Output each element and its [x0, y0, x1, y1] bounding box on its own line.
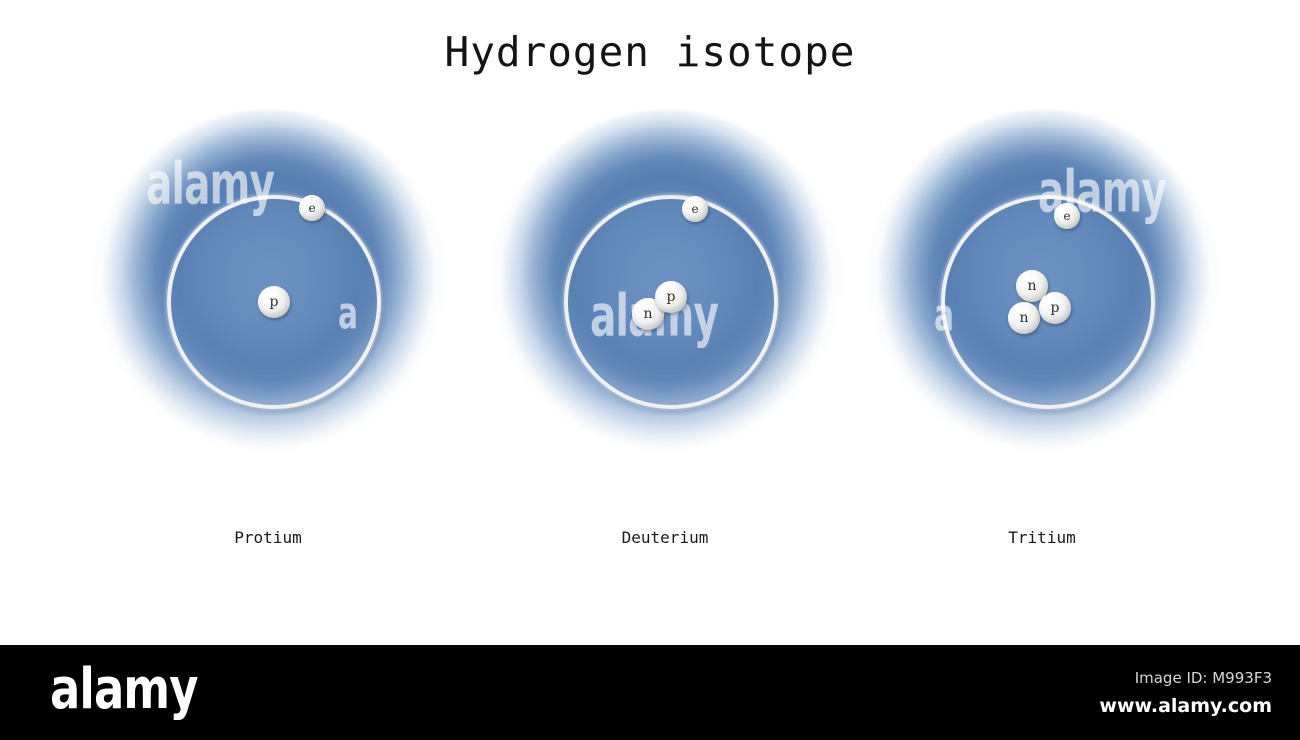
atom-diagram-tritium: alamy a a n n p e Tritium [842, 100, 1242, 570]
nucleon-neutron-bottom: n [1008, 302, 1040, 334]
electron-particle: e [682, 196, 708, 222]
alamy-url-link[interactable]: www.alamy.com [1099, 695, 1272, 717]
nucleon-proton: p [258, 286, 290, 318]
watermark-letter-a-glyph: a [186, 422, 205, 454]
watermark-letter-a-clipped: a [186, 422, 222, 454]
image-id-label: Image ID: M993F3 [1135, 669, 1272, 687]
illustration-canvas: Hydrogen isotope alamy a a p e Protium a… [0, 0, 1300, 740]
electron-particle: e [1054, 203, 1080, 229]
page-title: Hydrogen isotope [0, 28, 1300, 76]
atom-diagram-protium: alamy a a p e Protium [68, 100, 468, 570]
nucleon-proton: p [655, 281, 687, 313]
footer-bar: alamy Image ID: M993F3 www.alamy.com [0, 645, 1300, 740]
isotope-caption-tritium: Tritium [842, 528, 1242, 547]
isotope-caption-deuterium: Deuterium [465, 528, 865, 547]
alamy-logo[interactable]: alamy [50, 662, 198, 718]
isotope-figure-row: alamy a a p e Protium alamy n p e Deuter… [0, 100, 1300, 570]
isotope-caption-protium: Protium [68, 528, 468, 547]
electron-particle: e [299, 195, 325, 221]
watermark-letter-a-glyph: a [1090, 426, 1109, 458]
watermark-letter-a-clipped: a [1090, 426, 1126, 458]
atom-diagram-deuterium: alamy n p e Deuterium [465, 100, 865, 570]
nucleon-proton: p [1039, 292, 1071, 324]
